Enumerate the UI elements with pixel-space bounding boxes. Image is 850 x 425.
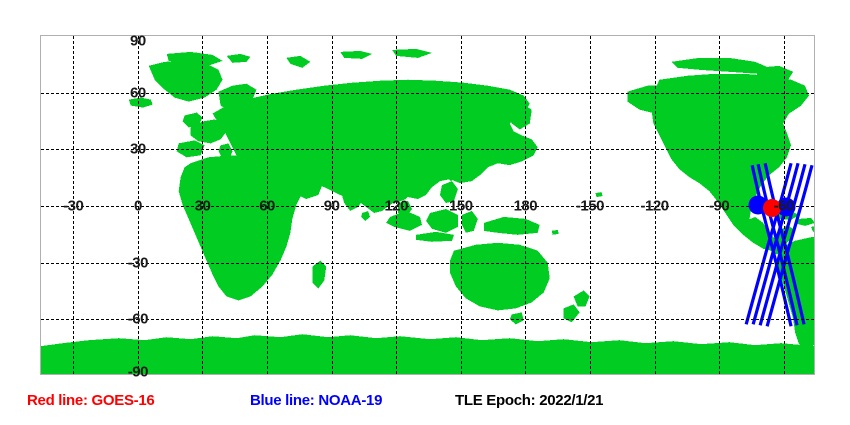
gridline-lat-60 xyxy=(41,93,814,94)
lat-tick-60: 60 xyxy=(130,84,146,101)
legend-tle-epoch: TLE Epoch: 2022/1/21 xyxy=(455,392,603,409)
gridline-lat-30 xyxy=(41,149,814,150)
lon-tick--60: -60 xyxy=(774,198,794,215)
lon-tick-60: 60 xyxy=(259,198,275,215)
lon-tick-90: 90 xyxy=(324,198,340,215)
lat-tick-90: 90 xyxy=(130,33,146,50)
orbit-track-layer xyxy=(41,36,814,374)
lon-tick--120: -120 xyxy=(641,198,669,215)
lat-tick--30: -30 xyxy=(128,254,148,271)
legend-bar: Red line: GOES-16 Blue line: NOAA-19 TLE… xyxy=(0,392,850,420)
lon-tick-0: 0 xyxy=(134,198,142,215)
gridline-lat--60 xyxy=(41,319,814,320)
lon-tick-120: 120 xyxy=(384,198,408,215)
lat-tick--90: -90 xyxy=(128,364,148,381)
map-clip-region xyxy=(41,36,814,374)
lon-tick--30: -30 xyxy=(63,198,83,215)
lon-tick--150: -150 xyxy=(576,198,604,215)
legend-red-line-goes16: Red line: GOES-16 xyxy=(27,392,154,409)
gridline-lat-0 xyxy=(41,206,814,207)
gridline-lat--30 xyxy=(41,263,814,264)
lon-tick-150: 150 xyxy=(449,198,473,215)
lon-tick--90: -90 xyxy=(709,198,729,215)
lat-tick-30: 30 xyxy=(130,141,146,158)
world-map-panel: -30 0 30 60 90 120 150 180 -150 -120 -90… xyxy=(40,35,815,375)
lon-tick-180: 180 xyxy=(514,198,538,215)
lat-tick--60: -60 xyxy=(128,311,148,328)
lon-tick-30: 30 xyxy=(195,198,211,215)
legend-blue-line-noaa19: Blue line: NOAA-19 xyxy=(250,392,382,409)
